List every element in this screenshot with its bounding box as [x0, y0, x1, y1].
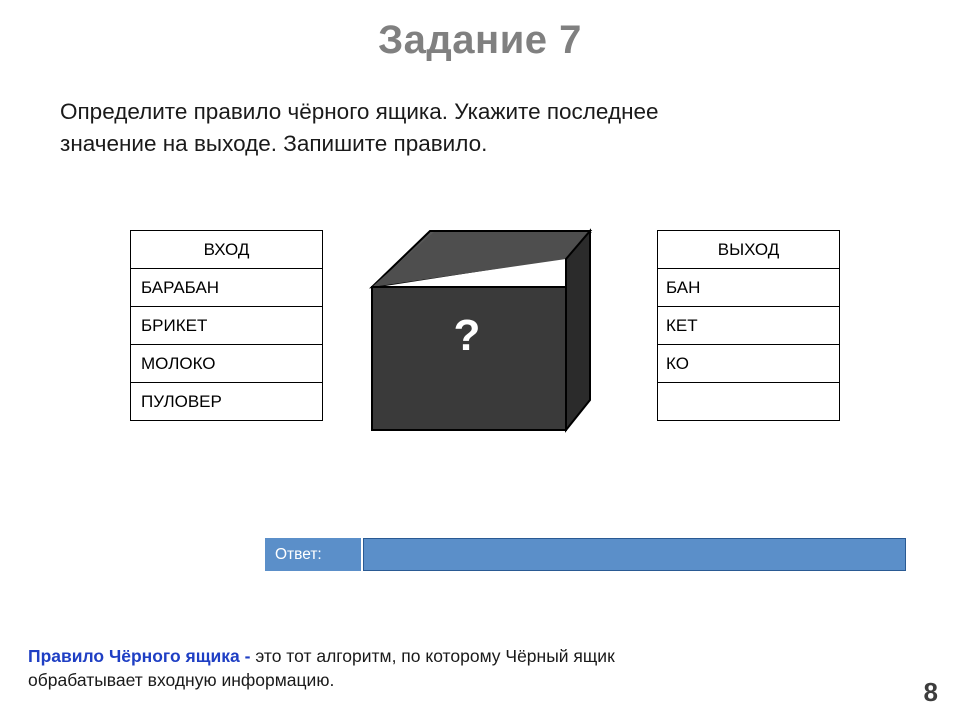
input-table-cell: ПУЛОВЕР: [131, 383, 323, 421]
footnote-text-1: это тот алгоритм, по которому Чёрный ящи…: [250, 646, 614, 666]
output-table: ВЫХОД БАН КЕТ КО: [657, 230, 840, 421]
table-row: КЕТ: [658, 307, 840, 345]
table-row: ВЫХОД: [658, 231, 840, 269]
output-table-cell-empty: [658, 383, 840, 421]
table-row: КО: [658, 345, 840, 383]
table-row: ВХОД: [131, 231, 323, 269]
table-row: БАН: [658, 269, 840, 307]
footnote-term: Правило Чёрного ящика -: [28, 646, 250, 666]
table-row: БАРАБАН: [131, 269, 323, 307]
answer-label: Ответ:: [265, 538, 363, 571]
table-row: МОЛОКО: [131, 345, 323, 383]
input-table: ВХОД БАРАБАН БРИКЕТ МОЛОКО ПУЛОВЕР: [130, 230, 323, 421]
task-description-line-2: значение на выходе. Запишите правило.: [60, 128, 900, 160]
page-title: Задание 7: [0, 18, 960, 63]
output-table-header: ВЫХОД: [658, 231, 840, 269]
input-table-cell: МОЛОКО: [131, 345, 323, 383]
input-table-cell: БАРАБАН: [131, 269, 323, 307]
output-table-cell: БАН: [658, 269, 840, 307]
output-table-cell: КО: [658, 345, 840, 383]
task-description: Определите правило чёрного ящика. Укажит…: [60, 96, 900, 160]
input-table-header: ВХОД: [131, 231, 323, 269]
answer-bar: Ответ:: [265, 538, 906, 571]
table-row: БРИКЕТ: [131, 307, 323, 345]
output-table-cell: КЕТ: [658, 307, 840, 345]
answer-input[interactable]: [363, 538, 906, 571]
black-box-question-mark: ?: [368, 314, 566, 358]
page-number: 8: [924, 677, 938, 708]
footnote-text-2: обрабатывает входную информацию.: [28, 670, 334, 690]
black-box-illustration: ?: [368, 228, 593, 433]
footnote: Правило Чёрного ящика - это тот алгоритм…: [28, 645, 788, 692]
input-table-cell: БРИКЕТ: [131, 307, 323, 345]
table-row: ПУЛОВЕР: [131, 383, 323, 421]
task-description-line-1: Определите правило чёрного ящика. Укажит…: [60, 96, 900, 128]
table-row: [658, 383, 840, 421]
